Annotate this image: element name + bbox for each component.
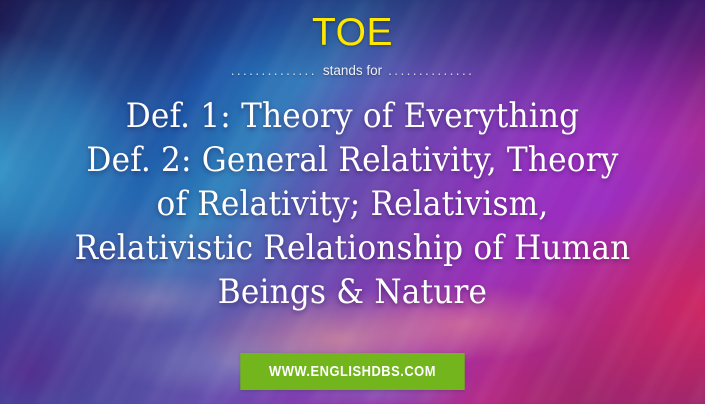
definition-line: Def. 1: Theory of Everything bbox=[38, 94, 668, 138]
stands-for-row: .............. stands for .............. bbox=[231, 63, 475, 78]
card-content: TOE .............. stands for ..........… bbox=[0, 0, 705, 404]
term-title: TOE bbox=[312, 13, 393, 52]
stands-for-label: stands for bbox=[323, 63, 382, 78]
dotted-leader-left: .............. bbox=[231, 63, 317, 78]
definition-line: of Relativity; Relativism, bbox=[38, 182, 668, 226]
dotted-leader-right: .............. bbox=[388, 63, 474, 78]
definition-line: Relativistic Relationship of Human bbox=[38, 226, 668, 270]
definition-card: TOE .............. stands for ..........… bbox=[0, 0, 705, 404]
definition-line: Beings & Nature bbox=[38, 270, 668, 314]
definition-line: Def. 2: General Relativity, Theory bbox=[38, 138, 668, 182]
definition-text-block: Def. 1: Theory of Everything Def. 2: Gen… bbox=[0, 94, 705, 314]
